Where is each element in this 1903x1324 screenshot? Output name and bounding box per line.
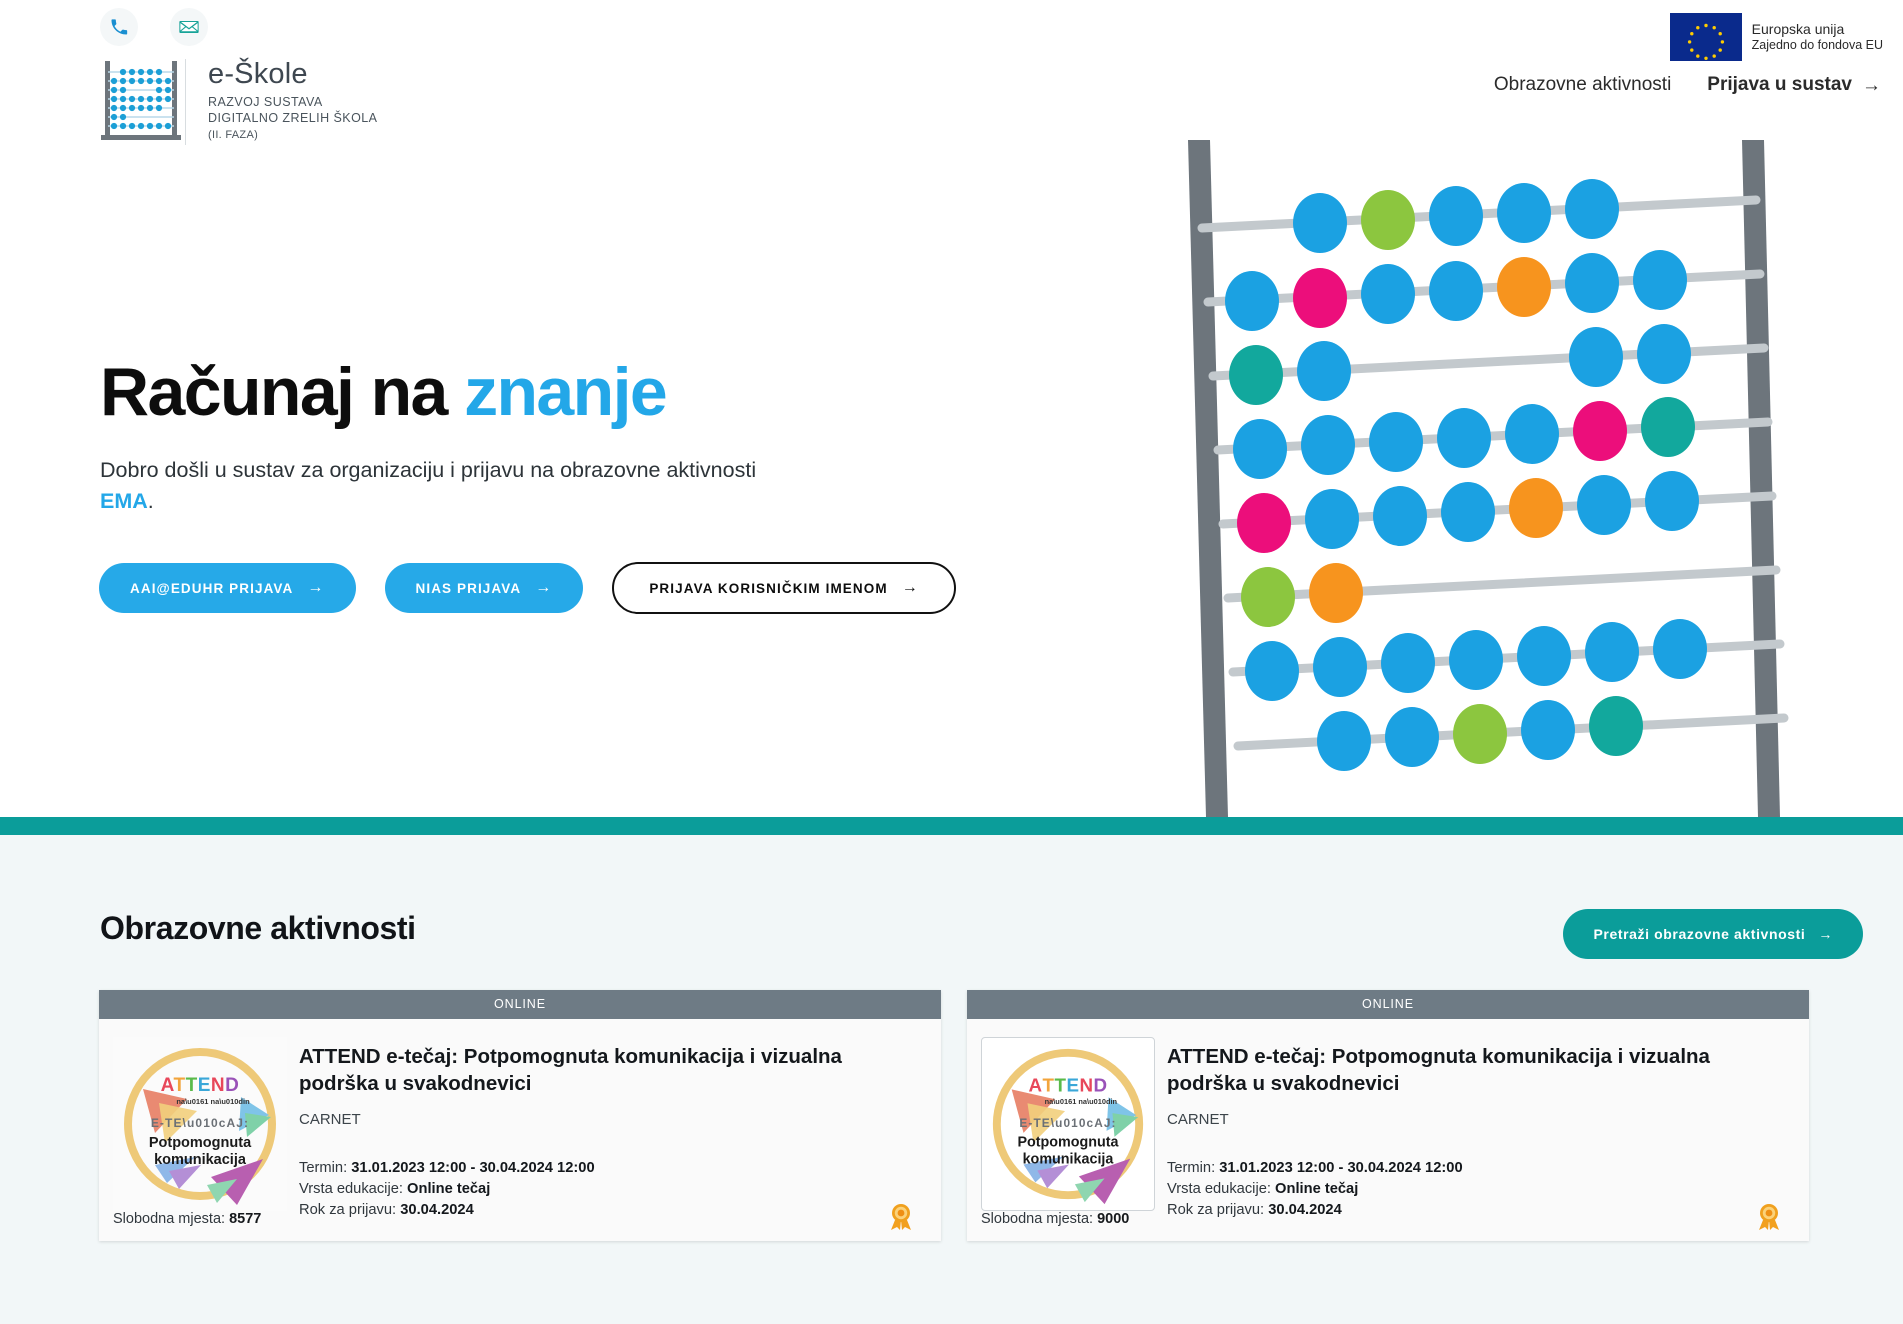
card-meta-deadline-value: 30.04.2024 xyxy=(1268,1202,1342,1218)
hero-headline-accent: znanje xyxy=(464,354,666,430)
card-meta: Termin: 31.01.2023 12:00 - 30.04.2024 12… xyxy=(299,1158,917,1221)
svg-text:ATTEND: ATTEND xyxy=(161,1075,240,1096)
card-meta-type-label: Vrsta edukacije: xyxy=(1167,1181,1271,1197)
card-meta: Termin: 31.01.2023 12:00 - 30.04.2024 12… xyxy=(1167,1158,1785,1221)
aai-eduhr-login-button[interactable]: AAI@EDUHR PRIJAVA → xyxy=(99,563,356,613)
card-meta-type-label: Vrsta edukacije: xyxy=(299,1181,403,1197)
nav-link-login[interactable]: Prijava u sustav → xyxy=(1707,74,1881,96)
card-meta-deadline-label: Rok za prijavu: xyxy=(299,1202,396,1218)
card-title[interactable]: ATTEND e-tečaj: Potpomognuta komunikacij… xyxy=(1167,1043,1747,1097)
card-organizer: CARNET xyxy=(1167,1111,1785,1128)
award-ribbon-icon xyxy=(886,1201,916,1231)
card-seats-label: Slobodna mjesta: xyxy=(981,1211,1093,1227)
card-main: ATTEND e-tečaj: Potpomognuta komunikacij… xyxy=(1167,1019,1809,1241)
arrow-right-icon: → xyxy=(307,580,324,596)
logo-text-block: e-Škole RAZVOJ SUSTAVA DIGITALNO ZRELIH … xyxy=(208,55,377,141)
card-body: ATTEND na\u0161 na\u010din E-TE\u010cAJ:… xyxy=(967,1019,1809,1241)
search-activities-label: Pretraži obrazovne aktivnosti xyxy=(1593,926,1805,942)
card-organizer: CARNET xyxy=(299,1111,917,1128)
logo-title: e-Škole xyxy=(208,59,377,89)
card-title[interactable]: ATTEND e-tečaj: Potpomognuta komunikacij… xyxy=(299,1043,879,1097)
svg-text:na\u0161 na\u010din: na\u0161 na\u010din xyxy=(176,1097,250,1106)
activity-card[interactable]: ONLINE xyxy=(99,990,941,1241)
mail-icon[interactable] xyxy=(170,8,208,46)
activities-section: Obrazovne aktivnosti Pretraži obrazovne … xyxy=(0,835,1903,1324)
card-meta-term: Termin: 31.01.2023 12:00 - 30.04.2024 12… xyxy=(1167,1158,1785,1179)
card-meta-term: Termin: 31.01.2023 12:00 - 30.04.2024 12… xyxy=(299,1158,917,1179)
phone-icon[interactable] xyxy=(100,8,138,46)
arrow-right-icon: → xyxy=(1818,926,1833,942)
abacus-illustration xyxy=(1180,140,1820,817)
svg-text:Potpomognuta: Potpomognuta xyxy=(149,1135,252,1151)
site-logo[interactable]: e-Škole RAZVOJ SUSTAVA DIGITALNO ZRELIH … xyxy=(97,55,377,145)
logo-subtitle: RAZVOJ SUSTAVA DIGITALNO ZRELIH ŠKOLA xyxy=(208,94,377,126)
contact-icons xyxy=(100,8,208,46)
activities-section-title: Obrazovne aktivnosti xyxy=(100,910,416,947)
eu-badge: Europska unija Zajedno do fondova EU xyxy=(1670,13,1883,61)
hero-subheadline: Dobro došli u sustav za organizaciju i p… xyxy=(100,455,800,517)
svg-text:komunikacija: komunikacija xyxy=(1023,1152,1115,1168)
page-root: e-Škole RAZVOJ SUSTAVA DIGITALNO ZRELIH … xyxy=(0,0,1903,1324)
eu-flag-icon xyxy=(1670,13,1742,61)
course-thumbnail: ATTEND na\u0161 na\u010din E-TE\u010cAJ:… xyxy=(113,1037,287,1211)
arrow-right-icon: → xyxy=(535,580,552,596)
hero-subheadline-part2: . xyxy=(148,489,154,513)
card-meta-type-value: Online tečaj xyxy=(407,1181,490,1197)
logo-phase: (II. FAZA) xyxy=(208,129,377,141)
card-meta-term-value: 31.01.2023 12:00 - 30.04.2024 12:00 xyxy=(1219,1160,1462,1176)
nav-link-login-label: Prijava u sustav xyxy=(1707,74,1852,96)
aai-eduhr-login-label: AAI@EDUHR PRIJAVA xyxy=(130,581,293,596)
course-thumbnail: ATTEND na\u0161 na\u010din E-TE\u010cAJ:… xyxy=(981,1037,1155,1211)
card-meta-term-value: 31.01.2023 12:00 - 30.04.2024 12:00 xyxy=(351,1160,594,1176)
arrow-right-icon: → xyxy=(1862,76,1881,95)
card-meta-deadline-value: 30.04.2024 xyxy=(400,1202,474,1218)
card-body: ATTEND na\u0161 na\u010din E-TE\u010cAJ:… xyxy=(99,1019,941,1241)
activity-card[interactable]: ONLINE xyxy=(967,990,1809,1241)
card-meta-term-label: Termin: xyxy=(1167,1160,1215,1176)
hero-subheadline-part1: Dobro došli u sustav za organizaciju i p… xyxy=(100,458,756,482)
card-seats-value: 8577 xyxy=(229,1211,261,1227)
card-seats-label: Slobodna mjesta: xyxy=(113,1211,225,1227)
card-meta-type: Vrsta edukacije: Online tečaj xyxy=(299,1179,917,1200)
award-ribbon-icon xyxy=(1754,1201,1784,1231)
svg-text:Potpomognuta: Potpomognuta xyxy=(1017,1135,1119,1151)
logo-subtitle-line2: DIGITALNO ZRELIH ŠKOLA xyxy=(208,111,377,125)
card-thumb-column: ATTEND na\u0161 na\u010din E-TE\u010cAJ:… xyxy=(967,1019,1167,1241)
card-meta-deadline: Rok za prijavu: 30.04.2024 xyxy=(299,1200,917,1221)
svg-text:komunikacija: komunikacija xyxy=(154,1152,247,1168)
card-seats: Slobodna mjesta: 8577 xyxy=(113,1211,287,1241)
svg-text:E-TE\u010cAJ:: E-TE\u010cAJ: xyxy=(1019,1116,1116,1130)
card-meta-deadline: Rok za prijavu: 30.04.2024 xyxy=(1167,1200,1785,1221)
eu-badge-title: Europska unija xyxy=(1752,21,1883,37)
username-login-button[interactable]: PRIJAVA KORISNIČKIM IMENOM → xyxy=(612,562,955,614)
svg-text:ATTEND: ATTEND xyxy=(1028,1074,1107,1095)
card-seats: Slobodna mjesta: 9000 xyxy=(981,1211,1155,1241)
card-meta-type-value: Online tečaj xyxy=(1275,1181,1358,1197)
username-login-label: PRIJAVA KORISNIČKIM IMENOM xyxy=(649,581,887,596)
arrow-right-icon: → xyxy=(902,580,919,596)
search-activities-button[interactable]: Pretraži obrazovne aktivnosti → xyxy=(1563,909,1863,959)
card-main: ATTEND e-tečaj: Potpomognuta komunikacij… xyxy=(299,1019,941,1241)
card-thumb-column: ATTEND na\u0161 na\u010din E-TE\u010cAJ:… xyxy=(99,1019,299,1241)
nav-link-activities[interactable]: Obrazovne aktivnosti xyxy=(1494,74,1671,96)
hero-headline: Računaj na znanje xyxy=(100,358,666,426)
nias-login-label: NIAS PRIJAVA xyxy=(416,581,522,596)
card-ribbon-online: ONLINE xyxy=(967,990,1809,1019)
nias-login-button[interactable]: NIAS PRIJAVA → xyxy=(385,563,584,613)
eu-badge-text: Europska unija Zajedno do fondova EU xyxy=(1752,21,1883,52)
card-ribbon-online: ONLINE xyxy=(99,990,941,1019)
svg-text:E-TE\u010cAJ:: E-TE\u010cAJ: xyxy=(151,1116,249,1130)
hero-cta-row: AAI@EDUHR PRIJAVA → NIAS PRIJAVA → PRIJA… xyxy=(99,562,956,614)
card-meta-term-label: Termin: xyxy=(299,1160,347,1176)
card-meta-deadline-label: Rok za prijavu: xyxy=(1167,1202,1264,1218)
hero-headline-part1: Računaj na xyxy=(100,354,464,430)
abacus-logo-icon xyxy=(97,55,185,145)
logo-divider xyxy=(185,59,186,145)
activity-card-grid: ONLINE xyxy=(99,990,1809,1241)
hero-section: e-Škole RAZVOJ SUSTAVA DIGITALNO ZRELIH … xyxy=(0,0,1903,817)
card-meta-type: Vrsta edukacije: Online tečaj xyxy=(1167,1179,1785,1200)
eu-badge-subtitle: Zajedno do fondova EU xyxy=(1752,38,1883,53)
teal-divider xyxy=(0,817,1903,835)
hero-subheadline-accent: EMA xyxy=(100,489,148,513)
card-seats-value: 9000 xyxy=(1097,1211,1129,1227)
svg-text:na\u0161 na\u010din: na\u0161 na\u010din xyxy=(1045,1097,1118,1106)
logo-subtitle-line1: RAZVOJ SUSTAVA xyxy=(208,95,323,109)
top-navigation: Obrazovne aktivnosti Prijava u sustav → xyxy=(1494,74,1881,96)
